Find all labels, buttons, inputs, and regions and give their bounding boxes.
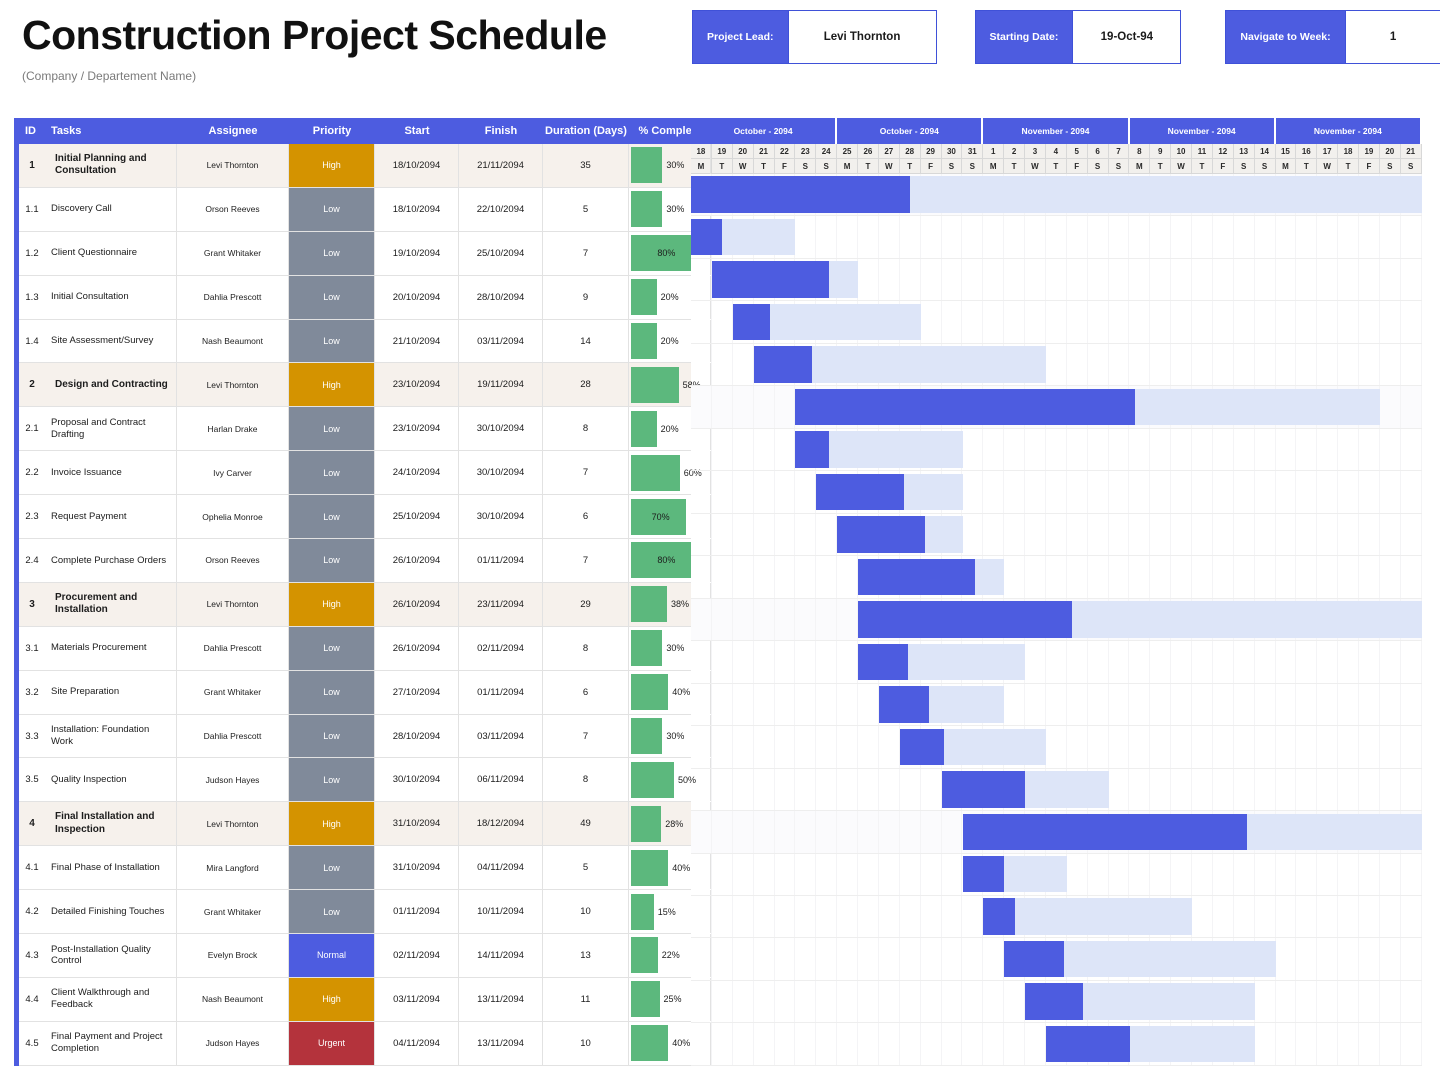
table-row[interactable]: 1.4Site Assessment/SurveyNash BeaumontLo…	[19, 320, 691, 364]
gantt-row[interactable]	[691, 854, 1422, 896]
gantt-row[interactable]	[691, 216, 1422, 258]
cell-id: 4.4	[19, 978, 45, 1021]
cell-id: 3.1	[19, 627, 45, 670]
gantt-weekday-letter: S	[1088, 159, 1109, 174]
table-row[interactable]: 4Final Installation and InspectionLevi T…	[19, 802, 691, 846]
cell-task-name: Request Payment	[45, 495, 177, 538]
cell-assignee: Orson Reeves	[177, 188, 289, 231]
cell-id: 3	[19, 583, 45, 626]
priority-badge: Normal	[289, 934, 375, 977]
cell-assignee: Harlan Drake	[177, 407, 289, 450]
cell-assignee: Grant Whitaker	[177, 232, 289, 275]
priority-badge: High	[289, 978, 375, 1021]
gantt-bar-progress[interactable]	[837, 516, 925, 552]
priority-badge: Low	[289, 890, 375, 933]
gantt-bar-progress[interactable]	[900, 729, 944, 765]
cell-duration: 6	[543, 671, 629, 714]
gantt-row[interactable]	[691, 259, 1422, 301]
cell-assignee: Ophelia Monroe	[177, 495, 289, 538]
gantt-bar-progress[interactable]	[712, 261, 829, 297]
gantt-day-number: 7	[1109, 144, 1130, 159]
gantt-bar-progress[interactable]	[858, 601, 1072, 637]
starting-date-value[interactable]: 19-Oct-94	[1072, 11, 1180, 63]
cell-start-date: 18/10/2094	[375, 144, 459, 187]
gantt-row[interactable]	[691, 726, 1422, 768]
cell-finish-date: 21/11/2094	[459, 144, 543, 187]
cell-start-date: 20/10/2094	[375, 276, 459, 319]
gantt-row[interactable]	[691, 896, 1422, 938]
gantt-day-number: 25	[837, 144, 858, 159]
cell-duration: 14	[543, 320, 629, 363]
gantt-day-number: 12	[1213, 144, 1234, 159]
schedule-sheet: IDTasksAssigneePriorityStartFinishDurati…	[14, 118, 1426, 1066]
gantt-day-number: 21	[1401, 144, 1422, 159]
cell-start-date: 03/11/2094	[375, 978, 459, 1021]
priority-badge: High	[289, 583, 375, 626]
cell-task-name: Final Payment and Project Completion	[45, 1022, 177, 1065]
percent-complete-bar	[631, 191, 662, 227]
percent-complete-label: 20%	[661, 424, 679, 434]
gantt-day-number: 17	[1317, 144, 1338, 159]
gantt-row[interactable]	[691, 514, 1422, 556]
cell-duration: 5	[543, 846, 629, 889]
table-row[interactable]: 1.3Initial ConsultationDahlia PrescottLo…	[19, 276, 691, 320]
cell-task-name: Quality Inspection	[45, 758, 177, 801]
cell-assignee: Orson Reeves	[177, 539, 289, 582]
gantt-weekday-letter: T	[712, 159, 733, 174]
gantt-weekday-letter: W	[1317, 159, 1338, 174]
cell-start-date: 21/10/2094	[375, 320, 459, 363]
cell-id: 4.1	[19, 846, 45, 889]
percent-complete-bar	[631, 367, 679, 403]
gantt-bar-progress[interactable]	[691, 176, 910, 212]
gantt-weekday-letter: M	[983, 159, 1004, 174]
percent-complete-bar	[631, 981, 660, 1017]
gantt-bar-progress[interactable]	[691, 219, 722, 255]
percent-complete-bar	[631, 1025, 668, 1061]
gantt-weekday-letter: S	[962, 159, 983, 174]
cell-duration: 5	[543, 188, 629, 231]
priority-badge: Low	[289, 846, 375, 889]
gantt-weekday-letter: S	[1234, 159, 1255, 174]
gantt-row[interactable]	[691, 429, 1422, 471]
cell-finish-date: 23/11/2094	[459, 583, 543, 626]
cell-start-date: 18/10/2094	[375, 188, 459, 231]
cell-duration: 29	[543, 583, 629, 626]
cell-duration: 13	[543, 934, 629, 977]
cell-id: 2.4	[19, 539, 45, 582]
priority-badge: Low	[289, 232, 375, 275]
percent-complete-bar	[631, 586, 667, 622]
table-row[interactable]: 2.1Proposal and Contract DraftingHarlan …	[19, 407, 691, 451]
navigate-to-week-control[interactable]: Navigate to Week: 1	[1225, 10, 1440, 64]
percent-complete-bar	[631, 630, 662, 666]
cell-finish-date: 22/10/2094	[459, 188, 543, 231]
gantt-page: Construction Project Schedule (Company /…	[0, 0, 1440, 1066]
gantt-day-number: 1	[983, 144, 1004, 159]
gantt-bar-progress[interactable]	[963, 856, 1005, 892]
cell-duration: 7	[543, 451, 629, 494]
project-lead-label: Project Lead:	[693, 11, 788, 63]
cell-finish-date: 13/11/2094	[459, 978, 543, 1021]
percent-complete-bar	[631, 279, 657, 315]
cell-id: 2.1	[19, 407, 45, 450]
cell-duration: 49	[543, 802, 629, 845]
gantt-weekday-letter: S	[1109, 159, 1130, 174]
gantt-bar-progress[interactable]	[879, 686, 929, 722]
gantt-row[interactable]	[691, 684, 1422, 726]
gantt-row[interactable]	[691, 301, 1422, 343]
cell-task-name: Client Walkthrough and Feedback	[45, 978, 177, 1021]
cell-duration: 7	[543, 232, 629, 275]
cell-assignee: Grant Whitaker	[177, 671, 289, 714]
gantt-weekday-letter: T	[1296, 159, 1317, 174]
cell-task-name: Discovery Call	[45, 188, 177, 231]
cell-id: 3.3	[19, 715, 45, 758]
gantt-day-number: 2	[1004, 144, 1025, 159]
gantt-day-number: 18	[1338, 144, 1359, 159]
column-header-finish[interactable]: Finish	[459, 118, 543, 144]
cell-id: 3.5	[19, 758, 45, 801]
cell-id: 2.2	[19, 451, 45, 494]
cell-duration: 8	[543, 627, 629, 670]
cell-task-name: Design and Contracting	[45, 363, 177, 406]
cell-task-name: Procurement and Installation	[45, 583, 177, 626]
gantt-bar-progress[interactable]	[1004, 941, 1064, 977]
cell-duration: 8	[543, 758, 629, 801]
column-header-assignee[interactable]: Assignee	[177, 118, 289, 144]
gantt-day-number: 31	[962, 144, 983, 159]
percent-complete-bar	[631, 323, 657, 359]
table-row[interactable]: 4.4Client Walkthrough and FeedbackNash B…	[19, 978, 691, 1022]
gantt-weekday-letter: S	[816, 159, 837, 174]
cell-task-name: Initial Consultation	[45, 276, 177, 319]
cell-task-name: Site Assessment/Survey	[45, 320, 177, 363]
cell-finish-date: 30/10/2094	[459, 451, 543, 494]
table-row[interactable]: 2Design and ContractingLevi ThorntonHigh…	[19, 363, 691, 407]
percent-complete-label: 30%	[666, 204, 684, 214]
gantt-weekday-letter: M	[1129, 159, 1150, 174]
gantt-row[interactable]	[691, 1023, 1422, 1065]
cell-assignee: Dahlia Prescott	[177, 627, 289, 670]
gantt-day-number: 29	[921, 144, 942, 159]
column-header-priority[interactable]: Priority	[289, 118, 375, 144]
gantt-weekday-letter: T	[1004, 159, 1025, 174]
column-header-id[interactable]: ID	[19, 118, 45, 144]
cell-duration: 10	[543, 1022, 629, 1065]
cell-assignee: Dahlia Prescott	[177, 715, 289, 758]
cell-id: 1.2	[19, 232, 45, 275]
task-table-header: IDTasksAssigneePriorityStartFinishDurati…	[19, 118, 691, 144]
cell-duration: 6	[543, 495, 629, 538]
gantt-row[interactable]	[691, 769, 1422, 811]
cell-id: 1.3	[19, 276, 45, 319]
gantt-day-number: 24	[816, 144, 837, 159]
gantt-day-number: 21	[754, 144, 775, 159]
project-lead-control[interactable]: Project Lead: Levi Thornton	[692, 10, 937, 64]
table-row[interactable]: 3.5Quality InspectionJudson HayesLow30/1…	[19, 758, 691, 802]
gantt-day-number: 30	[942, 144, 963, 159]
cell-assignee: Levi Thornton	[177, 583, 289, 626]
gantt-day-number: 10	[1171, 144, 1192, 159]
percent-complete-bar	[631, 762, 674, 798]
gantt-month-label: October - 2094	[837, 118, 983, 144]
gantt-weekday-letter: T	[1150, 159, 1171, 174]
percent-complete-bar	[631, 937, 658, 973]
gantt-day-number: 19	[712, 144, 733, 159]
navigate-to-week-label: Navigate to Week:	[1226, 11, 1344, 63]
cell-finish-date: 18/12/2094	[459, 802, 543, 845]
gantt-weekday-letter: W	[879, 159, 900, 174]
percent-complete-label: 20%	[661, 292, 679, 302]
cell-task-name: Client Questionnaire	[45, 232, 177, 275]
priority-badge: Low	[289, 276, 375, 319]
cell-start-date: 24/10/2094	[375, 451, 459, 494]
table-row[interactable]: 1Initial Planning and ConsultationLevi T…	[19, 144, 691, 188]
table-row[interactable]: 4.1Final Phase of InstallationMira Langf…	[19, 846, 691, 890]
page-title: Construction Project Schedule	[22, 14, 682, 57]
gantt-weekday-letter: W	[1025, 159, 1046, 174]
gantt-day-number: 8	[1129, 144, 1150, 159]
gantt-day-number: 5	[1067, 144, 1088, 159]
percent-complete-bar	[631, 718, 662, 754]
cell-id: 4.5	[19, 1022, 45, 1065]
cell-finish-date: 13/11/2094	[459, 1022, 543, 1065]
gantt-gridlines	[691, 726, 1422, 767]
table-row[interactable]: 3.1Materials ProcurementDahlia PrescottL…	[19, 627, 691, 671]
cell-start-date: 26/10/2094	[375, 627, 459, 670]
gantt-bar-progress[interactable]	[1046, 1026, 1130, 1062]
percent-complete-bar	[631, 455, 680, 491]
percent-complete-label: 40%	[672, 687, 690, 697]
gantt-weekday-letter: S	[795, 159, 816, 174]
cell-task-name: Complete Purchase Orders	[45, 539, 177, 582]
priority-badge: Low	[289, 539, 375, 582]
cell-finish-date: 03/11/2094	[459, 320, 543, 363]
percent-complete-bar	[631, 411, 657, 447]
cell-id: 3.2	[19, 671, 45, 714]
cell-assignee: Mira Langford	[177, 846, 289, 889]
gantt-weekday-letter: F	[1067, 159, 1088, 174]
priority-badge: Low	[289, 758, 375, 801]
cell-duration: 35	[543, 144, 629, 187]
page-subtitle: (Company / Departement Name)	[22, 69, 682, 83]
cell-assignee: Nash Beaumont	[177, 320, 289, 363]
priority-badge: Low	[289, 715, 375, 758]
navigate-to-week-value[interactable]: 1	[1345, 11, 1440, 63]
gantt-day-number: 6	[1088, 144, 1109, 159]
table-row[interactable]: 4.3Post-Installation Quality ControlEvel…	[19, 934, 691, 978]
percent-complete-bar	[631, 806, 661, 842]
gantt-weekday-letter: T	[1192, 159, 1213, 174]
gantt-bar-progress[interactable]	[942, 771, 1026, 807]
gantt-gridlines	[691, 471, 1422, 512]
gantt-weekday-letter: T	[754, 159, 775, 174]
table-row[interactable]: 3.3Installation: Foundation WorkDahlia P…	[19, 715, 691, 759]
gantt-weekday-letter: S	[942, 159, 963, 174]
gantt-row[interactable]	[691, 938, 1422, 980]
cell-duration: 7	[543, 539, 629, 582]
cell-start-date: 19/10/2094	[375, 232, 459, 275]
gantt-bar-progress[interactable]	[1025, 983, 1082, 1019]
percent-complete-label: 30%	[666, 160, 684, 170]
gantt-row[interactable]	[691, 556, 1422, 598]
percent-complete-label: 25%	[664, 994, 682, 1004]
gantt-gridlines	[691, 514, 1422, 555]
cell-task-name: Site Preparation	[45, 671, 177, 714]
cell-start-date: 30/10/2094	[375, 758, 459, 801]
gantt-weekday-letter: F	[1359, 159, 1380, 174]
cell-finish-date: 04/11/2094	[459, 846, 543, 889]
cell-id: 2.3	[19, 495, 45, 538]
gantt-weekday-letter: T	[858, 159, 879, 174]
percent-complete-label: 30%	[666, 643, 684, 653]
cell-task-name: Installation: Foundation Work	[45, 715, 177, 758]
cell-finish-date: 01/11/2094	[459, 539, 543, 582]
cell-task-name: Proposal and Contract Drafting	[45, 407, 177, 450]
gantt-weekday-letter: M	[1276, 159, 1297, 174]
table-row[interactable]: 3Procurement and InstallationLevi Thornt…	[19, 583, 691, 627]
cell-start-date: 25/10/2094	[375, 495, 459, 538]
percent-complete-label: 22%	[662, 950, 680, 960]
gantt-row[interactable]	[691, 344, 1422, 386]
priority-badge: Low	[289, 671, 375, 714]
gantt-body	[691, 174, 1422, 1066]
column-header-duration-days[interactable]: Duration (Days)	[543, 118, 629, 144]
table-row[interactable]: 3.2Site PreparationGrant WhitakerLow27/1…	[19, 671, 691, 715]
cell-assignee: Nash Beaumont	[177, 978, 289, 1021]
percent-complete-bar	[631, 674, 668, 710]
table-row[interactable]: 1.2Client QuestionnaireGrant WhitakerLow…	[19, 232, 691, 276]
gantt-bar-progress[interactable]	[754, 346, 812, 382]
gantt-day-number: 11	[1192, 144, 1213, 159]
gantt-day-number: 20	[733, 144, 754, 159]
cell-start-date: 26/10/2094	[375, 539, 459, 582]
gantt-weekday-letter: W	[733, 159, 754, 174]
starting-date-label: Starting Date:	[976, 11, 1073, 63]
gantt-weekday-letter: F	[921, 159, 942, 174]
cell-start-date: 31/10/2094	[375, 802, 459, 845]
gantt-weekday-letter: F	[1213, 159, 1234, 174]
cell-task-name: Materials Procurement	[45, 627, 177, 670]
cell-task-name: Initial Planning and Consultation	[45, 144, 177, 187]
gantt-row[interactable]	[691, 811, 1422, 853]
project-lead-value[interactable]: Levi Thornton	[788, 11, 936, 63]
cell-duration: 9	[543, 276, 629, 319]
cell-start-date: 01/11/2094	[375, 890, 459, 933]
cell-duration: 7	[543, 715, 629, 758]
table-row[interactable]: 4.5Final Payment and Project CompletionJ…	[19, 1022, 691, 1066]
cell-finish-date: 02/11/2094	[459, 627, 543, 670]
column-header-tasks[interactable]: Tasks	[45, 118, 177, 144]
gantt-day-number: 15	[1276, 144, 1297, 159]
gantt-bar-progress[interactable]	[816, 474, 904, 510]
gantt-row[interactable]	[691, 599, 1422, 641]
gantt-month-label: October - 2094	[691, 118, 837, 144]
table-row[interactable]: 2.3Request PaymentOphelia MonroeLow25/10…	[19, 495, 691, 539]
cell-id: 1.4	[19, 320, 45, 363]
column-header-start[interactable]: Start	[375, 118, 459, 144]
priority-badge: High	[289, 802, 375, 845]
table-row[interactable]: 2.4Complete Purchase OrdersOrson ReevesL…	[19, 539, 691, 583]
gantt-weekday-letter: S	[1401, 159, 1422, 174]
cell-start-date: 31/10/2094	[375, 846, 459, 889]
percent-complete-label: 28%	[665, 819, 683, 829]
gantt-row[interactable]	[691, 174, 1422, 216]
priority-badge: Low	[289, 627, 375, 670]
cell-id: 4	[19, 802, 45, 845]
gantt-bar-progress[interactable]	[963, 814, 1248, 850]
task-table: IDTasksAssigneePriorityStartFinishDurati…	[19, 118, 691, 1066]
cell-finish-date: 14/11/2094	[459, 934, 543, 977]
gantt-bar-progress[interactable]	[733, 304, 771, 340]
cell-finish-date: 25/10/2094	[459, 232, 543, 275]
table-wrap: IDTasksAssigneePriorityStartFinishDurati…	[19, 118, 1426, 1066]
cell-id: 4.2	[19, 890, 45, 933]
cell-assignee: Grant Whitaker	[177, 890, 289, 933]
gantt-weekday-letter: S	[1380, 159, 1401, 174]
priority-badge: Low	[289, 451, 375, 494]
cell-duration: 28	[543, 363, 629, 406]
title-block: Construction Project Schedule (Company /…	[22, 14, 682, 83]
gantt-row[interactable]	[691, 641, 1422, 683]
gantt-bar-progress[interactable]	[795, 431, 828, 467]
gantt-weekday-letter: T	[900, 159, 921, 174]
gantt-month-label: November - 2094	[1276, 118, 1422, 144]
gantt-day-number: 28	[900, 144, 921, 159]
gantt-weekday-letter: S	[1255, 159, 1276, 174]
percent-complete-label: 30%	[666, 731, 684, 741]
cell-finish-date: 01/11/2094	[459, 671, 543, 714]
percent-complete-bar	[631, 894, 654, 930]
table-row[interactable]: 2.2Invoice IssuanceIvy CarverLow24/10/20…	[19, 451, 691, 495]
gantt-row[interactable]	[691, 386, 1422, 428]
cell-finish-date: 03/11/2094	[459, 715, 543, 758]
cell-task-name: Final Phase of Installation	[45, 846, 177, 889]
gantt-bar-progress[interactable]	[795, 389, 1134, 425]
table-row[interactable]: 1.1Discovery CallOrson ReevesLow18/10/20…	[19, 188, 691, 232]
gantt-bar-progress[interactable]	[858, 644, 908, 680]
cell-task-name: Detailed Finishing Touches	[45, 890, 177, 933]
cell-finish-date: 28/10/2094	[459, 276, 543, 319]
gantt-day-number: 3	[1025, 144, 1046, 159]
gantt-day-number: 23	[795, 144, 816, 159]
table-row[interactable]: 4.2Detailed Finishing TouchesGrant Whita…	[19, 890, 691, 934]
gantt-bar-progress[interactable]	[858, 559, 975, 595]
priority-badge: High	[289, 144, 375, 187]
gantt-weekday-letter: T	[1338, 159, 1359, 174]
cell-finish-date: 19/11/2094	[459, 363, 543, 406]
percent-complete-label: 15%	[658, 907, 676, 917]
cell-start-date: 04/11/2094	[375, 1022, 459, 1065]
starting-date-control[interactable]: Starting Date: 19-Oct-94	[975, 10, 1182, 64]
cell-assignee: Levi Thornton	[177, 363, 289, 406]
cell-assignee: Levi Thornton	[177, 802, 289, 845]
cell-id: 1	[19, 144, 45, 187]
gantt-day-number: 4	[1046, 144, 1067, 159]
gantt-day-number: 14	[1255, 144, 1276, 159]
gantt-day-number: 22	[775, 144, 796, 159]
gantt-row[interactable]	[691, 471, 1422, 513]
percent-complete-label: 80%	[657, 555, 675, 565]
gantt-bar-progress[interactable]	[983, 898, 1014, 934]
gantt-row[interactable]	[691, 981, 1422, 1023]
cell-start-date: 23/10/2094	[375, 407, 459, 450]
priority-badge: Urgent	[289, 1022, 375, 1065]
cell-finish-date: 30/10/2094	[459, 407, 543, 450]
cell-assignee: Ivy Carver	[177, 451, 289, 494]
cell-task-name: Post-Installation Quality Control	[45, 934, 177, 977]
